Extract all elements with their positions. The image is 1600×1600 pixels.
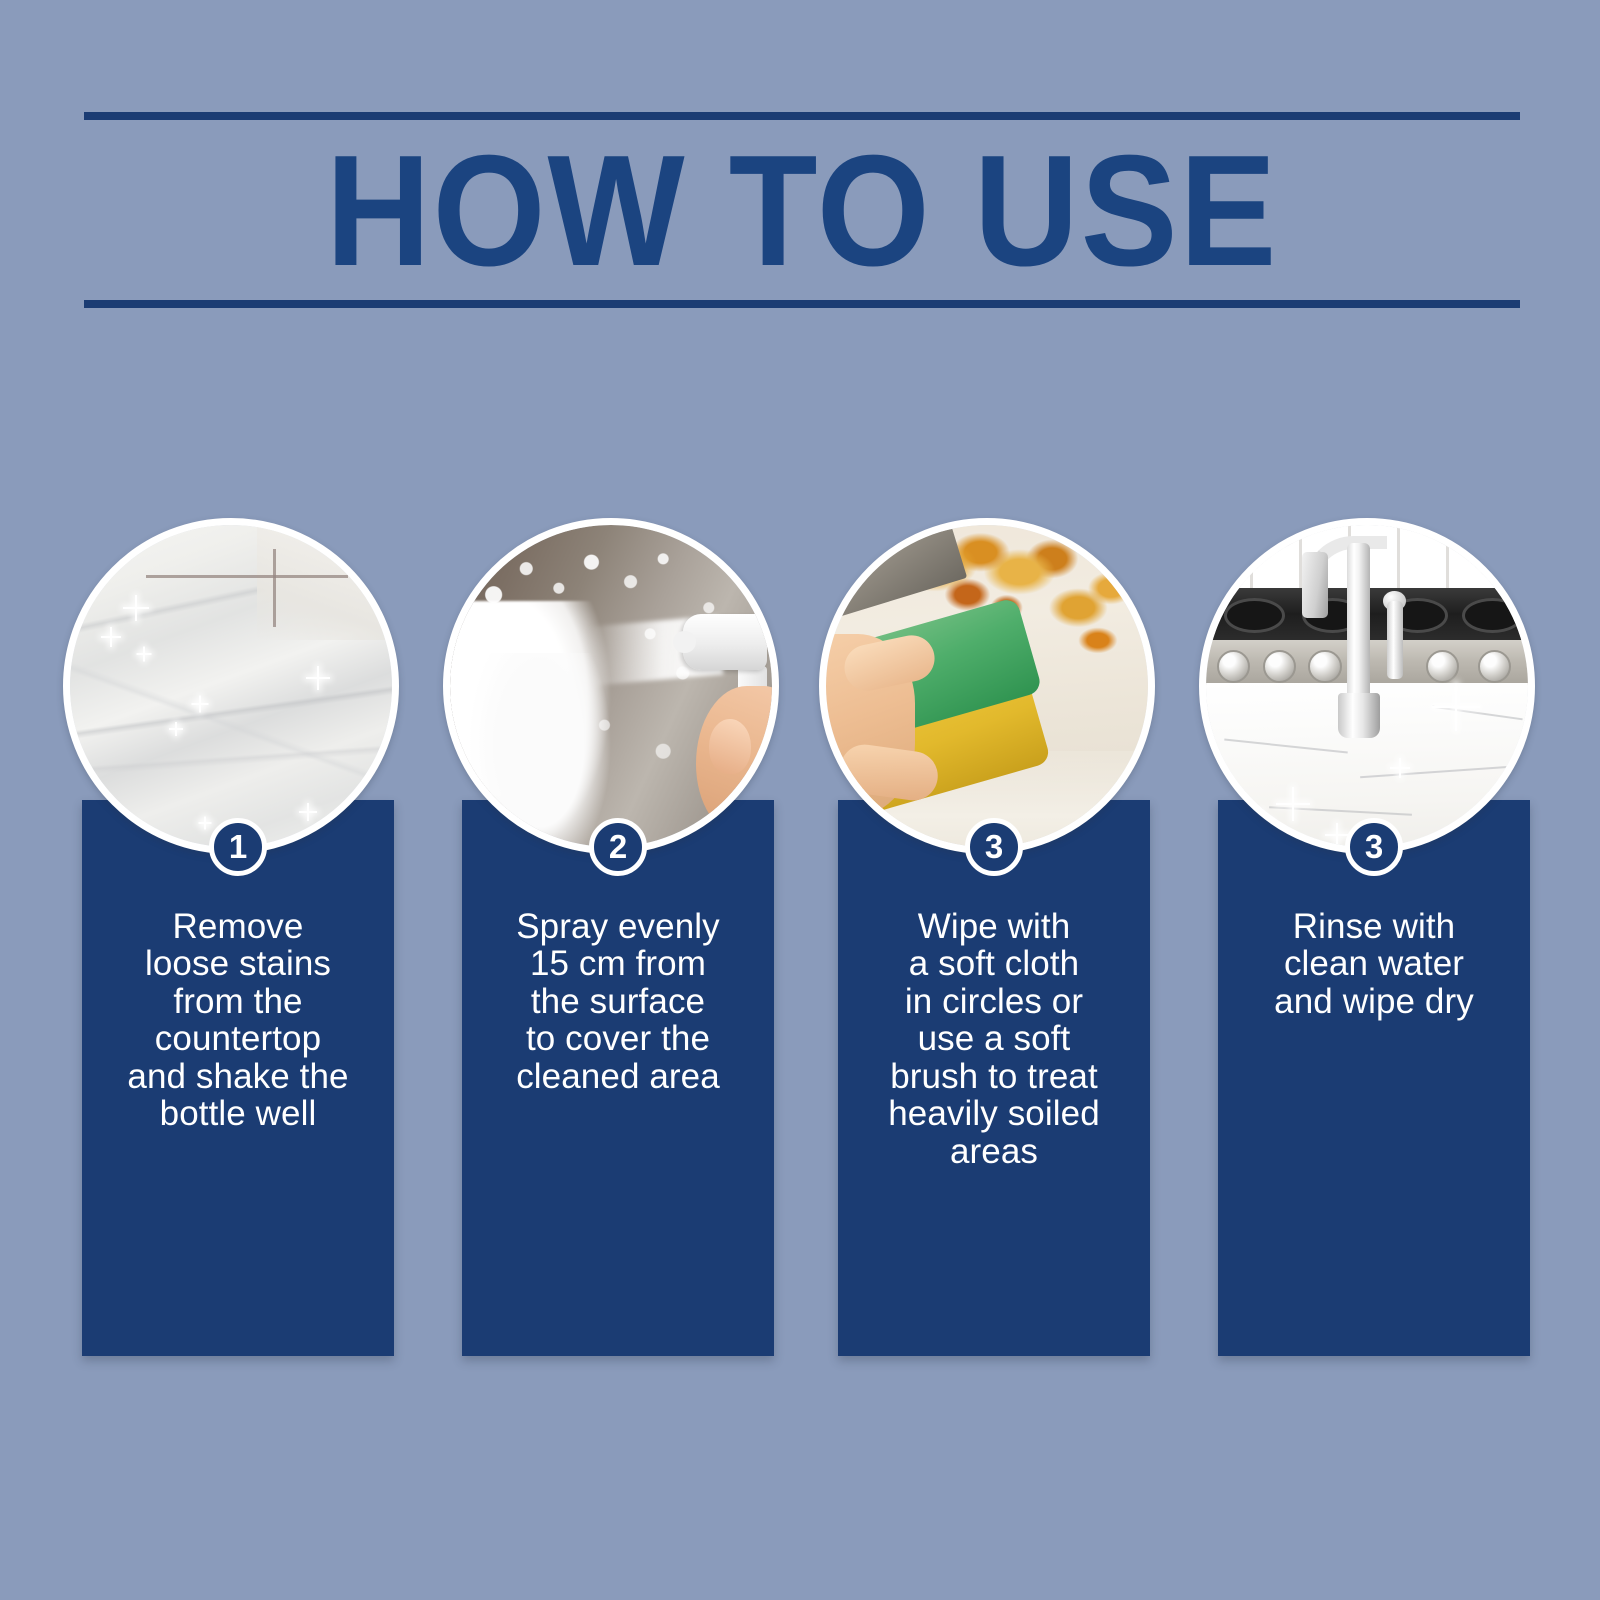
hand-spraying-cleaner-on-foamy-surface-photo	[450, 525, 772, 847]
step-number-badge-1: 1	[209, 818, 267, 876]
white-marble-countertop-sparkling-photo	[70, 525, 392, 847]
step-photo-4	[1199, 518, 1535, 854]
sparkle-icon	[306, 666, 330, 690]
step-photo-1	[63, 518, 399, 854]
sparkle-icon	[101, 627, 121, 647]
step-panel-4	[1218, 800, 1530, 1356]
sparkle-icon	[192, 696, 209, 713]
sparkle-icon	[136, 647, 151, 662]
step-caption-4: Rinse with clean water and wipe dry	[1218, 908, 1530, 1020]
step-caption-3: Wipe with a soft cloth in circles or use…	[838, 908, 1150, 1170]
step-photo-3	[819, 518, 1155, 854]
how-to-use-infographic: HOW TO USE	[0, 0, 1600, 1600]
hand-with-green-yellow-sponge-on-stained-counter-photo	[826, 525, 1148, 847]
step-number-badge-3: 3	[965, 818, 1023, 876]
chrome-faucet-stove-clean-countertop-photo	[1206, 525, 1528, 847]
sparkle-icon	[123, 595, 149, 621]
step-number-badge-4: 3	[1345, 818, 1403, 876]
step-caption-1: Remove loose stains from the countertop …	[82, 908, 394, 1133]
step-card-3: 3 Wipe with a soft cloth in circles or u…	[808, 518, 1180, 1378]
sparkle-icon	[198, 816, 211, 829]
step-photo-2	[443, 518, 779, 854]
sparkle-icon	[169, 722, 183, 736]
step-card-1: 1 Remove loose stains from the counterto…	[52, 518, 424, 1378]
step-number-badge-2: 2	[589, 818, 647, 876]
step-caption-2: Spray evenly 15 cm from the surface to c…	[462, 908, 774, 1095]
step-card-4: 3 Rinse with clean water and wipe dry	[1188, 518, 1560, 1378]
sparkle-icon	[299, 803, 317, 821]
step-card-2: 2 Spray evenly 15 cm from the surface to…	[432, 518, 804, 1378]
steps-row: 1 Remove loose stains from the counterto…	[0, 0, 1600, 1600]
